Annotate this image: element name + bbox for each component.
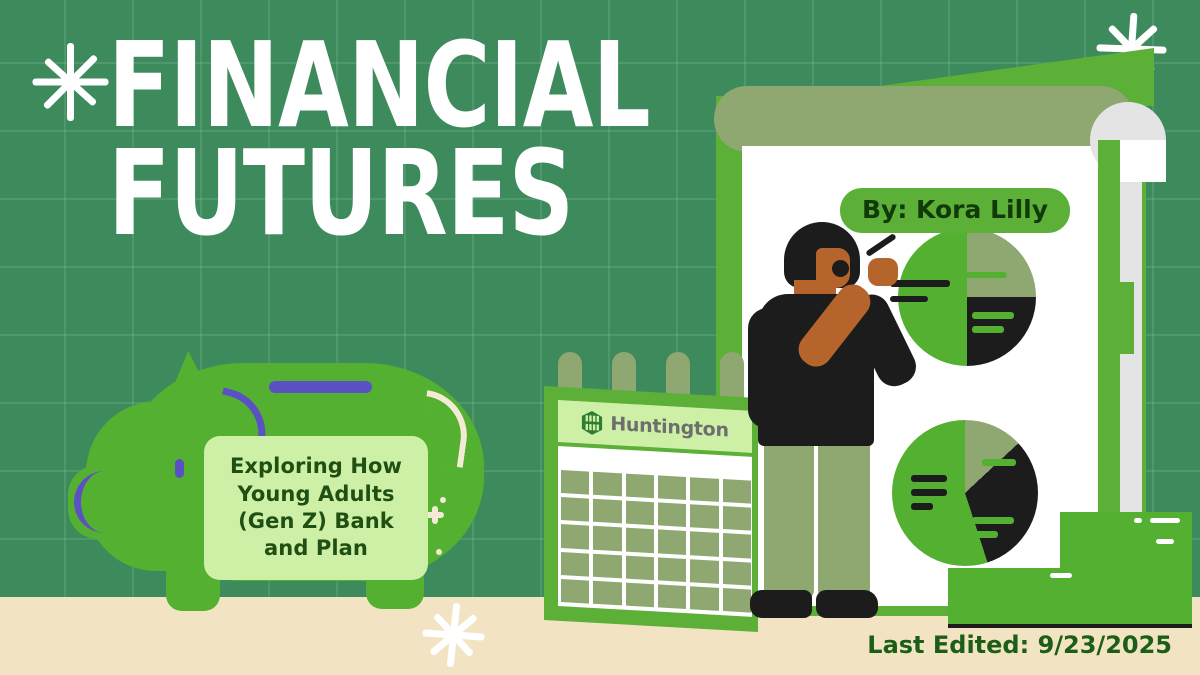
money-stack-right [1060,512,1192,572]
bill-highlight [1156,539,1174,544]
pie-lower-label-c [972,531,998,538]
pie-lower-label-a [982,459,1016,466]
calendar-day-cell [690,586,718,611]
bill [948,606,1192,628]
calendar-day-cell [690,504,718,529]
calendar-day-cell [593,472,621,497]
presenter-left-arm [748,308,786,428]
presenter-right-shoe [816,590,878,618]
piggy-eye [175,459,184,478]
calendar-day-cell [626,582,654,607]
calendar-day-cell [593,499,621,524]
subtitle-card: Exploring How Young Adults (Gen Z) Bank … [204,436,428,580]
calendar-day-cell [561,552,589,577]
presenter-right-leg [818,440,870,600]
flipchart-side-tab [1112,282,1134,354]
calendar-day-cell [658,557,686,582]
money-stack-left [948,568,1192,624]
pie-lower-label-b [972,517,1014,524]
calendar-day-cell [593,526,621,551]
pie-top-label-b [972,312,1014,319]
flipchart-roller-bar [714,86,1134,152]
calendar-day-cell [626,501,654,526]
bill-highlight [1050,573,1072,578]
pie-lower-pointer-b [911,489,947,496]
piggy-sparkle-dot [440,497,446,503]
calendar-day-cell [561,497,589,522]
bill-dot [1134,518,1142,523]
subtitle-text: Exploring How Young Adults (Gen Z) Bank … [204,453,428,562]
calendar-day-cell [658,584,686,609]
slide-canvas: By: Kora Lilly [0,0,1200,675]
calendar-day-cell [690,477,718,502]
calendar-day-cell [690,532,718,557]
pie-top-label-c [972,326,1004,333]
calendar-day-cell [561,470,589,495]
wall-calendar: Huntington [536,352,766,620]
presenter-left-shoe [750,590,812,618]
presenter-left-leg [764,440,814,600]
calendar-day-cell [561,579,589,604]
pie-top-pointer-a [890,280,950,287]
title-line-2: FUTURES [108,146,641,240]
calendar-day-cell [626,555,654,580]
presenter-ear [832,260,849,277]
pie-lower-pointer-a [911,475,947,482]
presenter-figure [740,222,890,622]
calendar-day-cell [658,475,686,500]
piggy-coin-slot [269,381,372,393]
calendar-day-cell [690,559,718,584]
calendar-day-cell [561,524,589,549]
calendar-day-cell [593,581,621,606]
calendar-day-cell [658,530,686,555]
title-line-1: FINANCIAL [108,38,641,132]
calendar-day-cell [593,553,621,578]
piggy-sparkle-dot [436,549,442,555]
calendar-day-cell [626,474,654,499]
presenter-hand [868,258,898,286]
pie-top-pointer-b [890,296,928,302]
pie-lower-pointer-c [911,503,933,510]
piggy-sparkle-plus [432,506,438,524]
bill-highlight [1150,518,1180,523]
huntington-logo-icon [581,410,603,435]
huntington-wordmark: Huntington [610,413,728,442]
calendar-day-cell [626,528,654,553]
last-edited-label: Last Edited: 9/23/2025 [867,631,1172,659]
pie-top-label-a [963,272,1007,278]
calendar-day-grid [561,470,751,613]
calendar-day-cell [658,503,686,528]
page-title: FINANCIAL FUTURES [108,38,728,241]
